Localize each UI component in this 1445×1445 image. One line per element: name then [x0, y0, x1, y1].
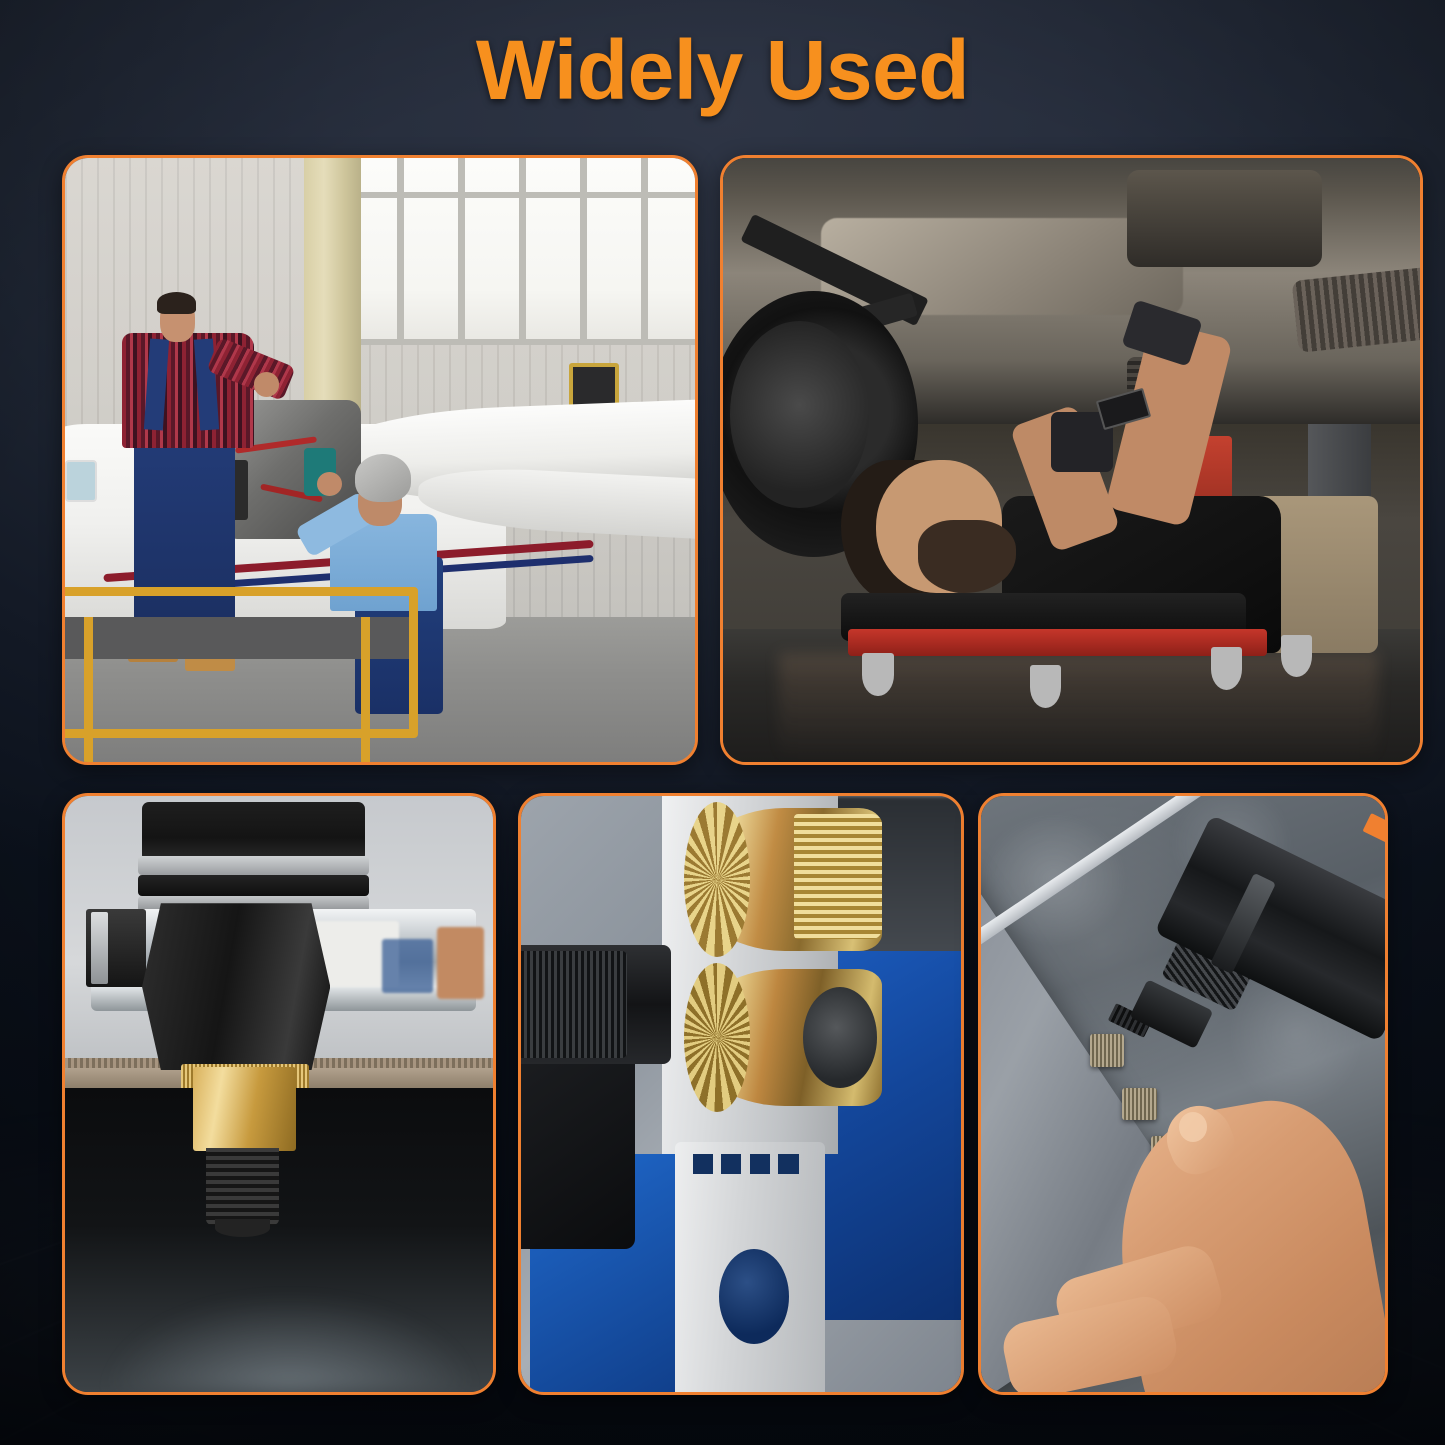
panel-rivet-nuts [518, 793, 964, 1395]
car-wheel-rim [730, 321, 869, 508]
rivet-nut-tool-closeup-photo [65, 796, 493, 1392]
rivet-nut-lower-bore [803, 987, 878, 1088]
thumb-nail [1179, 1112, 1207, 1142]
tool-nosepiece-knurling [521, 951, 627, 1058]
bracket-notch [693, 1154, 713, 1174]
bottom-light-glow [108, 1297, 472, 1392]
chrome-reflection-blue-2 [382, 939, 433, 993]
installed-rivet-nuts-photo [521, 796, 961, 1392]
tool-ring-chrome-upper [138, 856, 369, 875]
aircraft-window [65, 460, 97, 502]
technician-male-hand [254, 372, 279, 396]
underbody-coating [1127, 170, 1322, 267]
bracket-notch [721, 1154, 741, 1174]
hex-nosepiece [142, 903, 330, 1070]
auto-mechanic-photo [723, 158, 1420, 762]
rivet-nut-lower-knurled-flange [684, 963, 750, 1112]
creeper-caster-wheel [1211, 647, 1242, 689]
exhaust-heat-shield [1291, 265, 1420, 353]
creeper-caster-wheel [862, 653, 893, 695]
rivet-nut-upper-knurled-flange [684, 802, 750, 957]
hex-nose-side-chrome [91, 912, 108, 984]
bracket-notch [778, 1154, 798, 1174]
bracket-notch [750, 1154, 770, 1174]
installed-rivet-nut [1122, 1088, 1156, 1120]
creeper-caster-wheel [1281, 635, 1312, 677]
installed-rivet-nut [1090, 1034, 1124, 1066]
work-platform-leg-left [84, 617, 93, 762]
rivet-nut-brass-body [193, 1067, 296, 1150]
panel-tool-closeup [62, 793, 496, 1395]
panel-sheet-metal [978, 793, 1388, 1395]
bracket-oval-hole [719, 1249, 789, 1344]
creeper-caster-wheel [1030, 665, 1061, 707]
technician-female-cap [355, 454, 412, 502]
tool-ring-black [138, 875, 369, 896]
operator-gloved-hand [521, 1046, 635, 1249]
panel-aviation [62, 155, 698, 765]
aircraft-maintenance-photo [65, 158, 695, 762]
tool-end-cap [142, 802, 365, 862]
hangar-window-band [336, 158, 695, 345]
work-platform-leg-right [361, 617, 370, 762]
creeper-frame [848, 629, 1266, 656]
rivet-nut-upper-threads [794, 814, 882, 939]
technician-male-hair [157, 292, 196, 314]
panel-automotive [720, 155, 1423, 765]
page-title: Widely Used [0, 22, 1445, 119]
chrome-reflection-skin [437, 927, 484, 999]
rivet-nut-threaded-mandrel [206, 1148, 279, 1225]
sheet-metal-riveting-photo [981, 796, 1385, 1392]
mandrel-tip [215, 1219, 271, 1237]
